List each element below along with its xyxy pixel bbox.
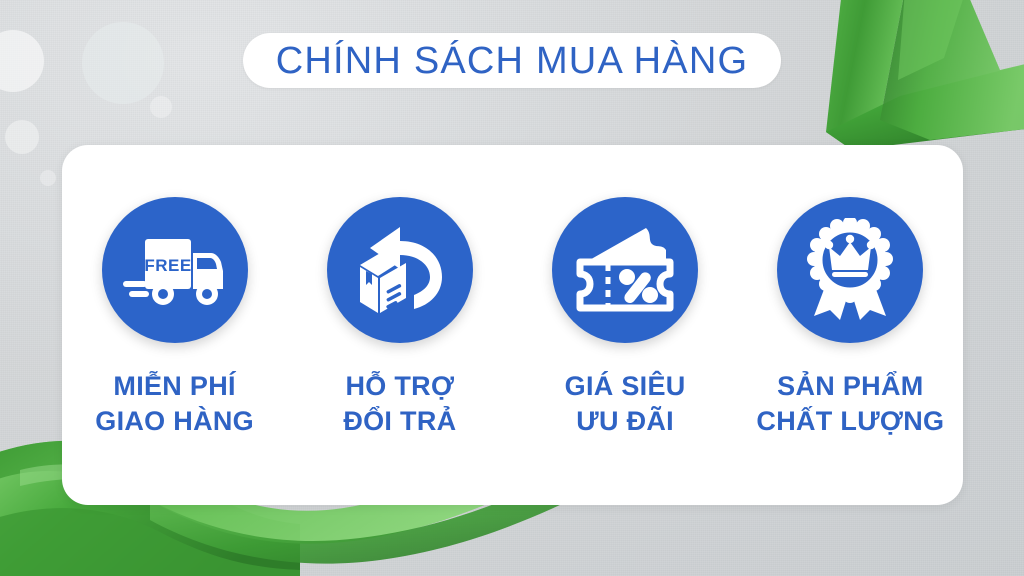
svg-text:FREE: FREE bbox=[144, 256, 191, 275]
feature-item-return-exchange[interactable]: HỖ TRỢ ĐỔI TRẢ bbox=[295, 197, 505, 438]
feature-item-quality-product[interactable]: SẢN PHẨM CHẤT LƯỢNG bbox=[745, 197, 955, 438]
feature-label-line2: CHẤT LƯỢNG bbox=[756, 404, 944, 439]
feature-label: HỖ TRỢ ĐỔI TRẢ bbox=[343, 369, 456, 438]
bokeh-circle bbox=[0, 30, 44, 92]
policy-card: FREE MIỄN PHÍ GIAO HÀNG bbox=[62, 145, 963, 505]
page-title: CHÍNH SÁCH MUA HÀNG bbox=[276, 42, 749, 80]
feature-label: SẢN PHẨM CHẤT LƯỢNG bbox=[756, 369, 944, 438]
feature-list: FREE MIỄN PHÍ GIAO HÀNG bbox=[62, 145, 963, 505]
feature-label-line1: MIỄN PHÍ bbox=[113, 371, 235, 401]
feature-label-line2: ĐỔI TRẢ bbox=[343, 404, 456, 439]
feature-item-free-delivery[interactable]: FREE MIỄN PHÍ GIAO HÀNG bbox=[70, 197, 280, 438]
poster-canvas: CHÍNH SÁCH MUA HÀNG FREE bbox=[0, 0, 1024, 576]
feature-item-super-price[interactable]: GIÁ SIÊU ƯU ĐÃI bbox=[520, 197, 730, 438]
discount-coupon-icon bbox=[552, 197, 698, 343]
delivery-truck-icon: FREE bbox=[102, 197, 248, 343]
feature-label-line1: SẢN PHẨM bbox=[777, 371, 923, 401]
bokeh-circle bbox=[5, 120, 39, 154]
bokeh-circle bbox=[82, 22, 164, 104]
page-title-pill: CHÍNH SÁCH MUA HÀNG bbox=[243, 33, 781, 88]
feature-label-line2: ƯU ĐÃI bbox=[565, 404, 686, 439]
feature-label-line2: GIAO HÀNG bbox=[95, 404, 254, 439]
feature-label-line1: GIÁ SIÊU bbox=[565, 371, 686, 401]
bokeh-circle bbox=[150, 96, 172, 118]
feature-label: GIÁ SIÊU ƯU ĐÃI bbox=[565, 369, 686, 438]
bokeh-circle bbox=[40, 170, 56, 186]
feature-label: MIỄN PHÍ GIAO HÀNG bbox=[95, 369, 254, 438]
feature-label-line1: HỖ TRỢ bbox=[345, 371, 454, 401]
return-box-arrow-icon bbox=[327, 197, 473, 343]
quality-award-badge-icon bbox=[777, 197, 923, 343]
